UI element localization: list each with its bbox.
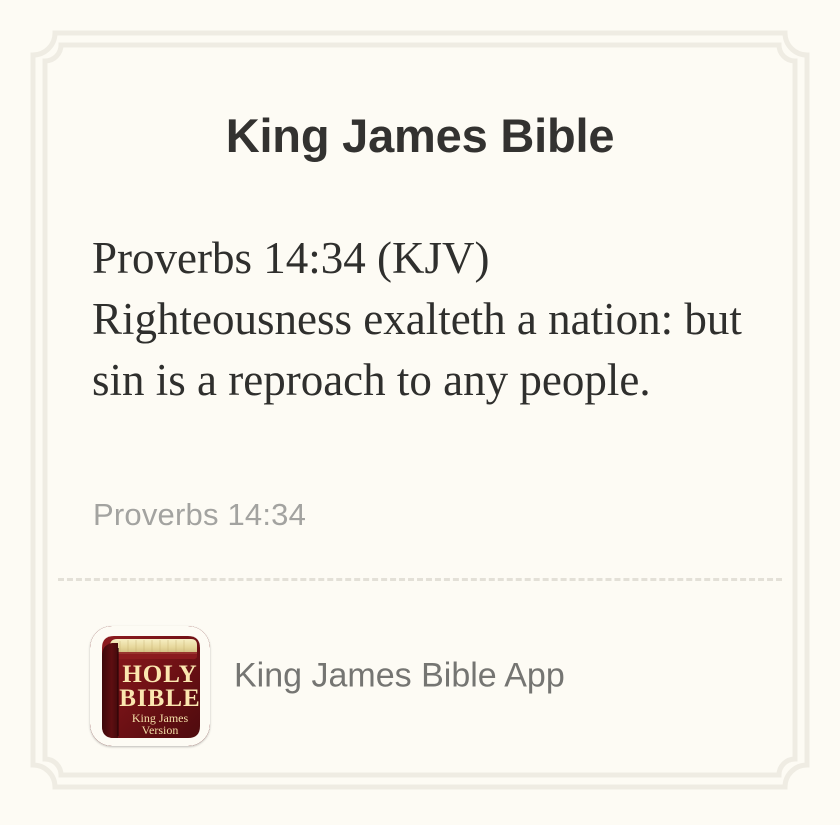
holy-bible-app-icon[interactable]: HOLY BIBLE King James Version	[90, 626, 210, 746]
icon-subtitle-line-2: Version	[142, 723, 179, 737]
bible-verse-card: King James Bible Proverbs 14:34 (KJV) Ri…	[0, 0, 840, 820]
verse-text: Proverbs 14:34 (KJV) Righteousness exalt…	[92, 228, 752, 411]
page-title: King James Bible	[0, 108, 840, 163]
app-footer[interactable]: HOLY BIBLE King James Version King James…	[90, 626, 790, 746]
icon-title-line-1: HOLY	[122, 661, 197, 688]
holy-bible-app-icon-svg: HOLY BIBLE King James Version	[90, 626, 210, 746]
verse-reference: Proverbs 14:34	[93, 497, 306, 533]
app-name-label: King James Bible App	[234, 657, 565, 696]
section-divider	[58, 578, 782, 581]
icon-title-line-2: BIBLE	[119, 685, 200, 712]
card-content: King James Bible Proverbs 14:34 (KJV) Ri…	[0, 0, 840, 820]
